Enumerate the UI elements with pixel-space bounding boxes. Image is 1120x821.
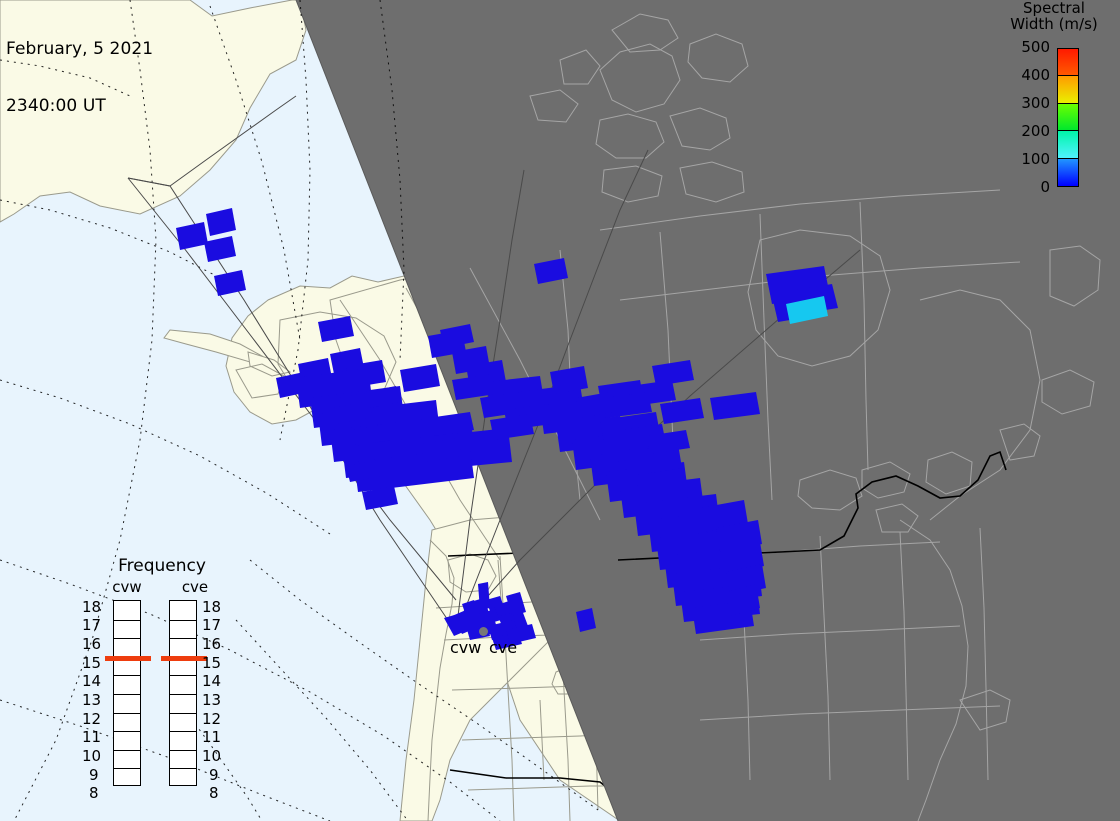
frequency-bar-cve — [169, 600, 197, 786]
radar-site-label-cvw: cvw — [450, 638, 481, 657]
colorbar-tick-100: 100 — [1021, 152, 1050, 167]
freq-cve-12: 12 — [202, 712, 221, 727]
colorbar-segment-400-500 — [1058, 49, 1078, 76]
freq-cvw-12: 12 — [82, 712, 101, 727]
frequency-marker-cvw — [105, 656, 151, 661]
colorbar-segment-0-100 — [1058, 159, 1078, 186]
freq-cve-17: 17 — [202, 618, 221, 633]
freq-cve-10: 10 — [202, 749, 221, 764]
colorbar-segment-100-200 — [1058, 131, 1078, 158]
colorbar-tick-400: 400 — [1021, 68, 1050, 83]
colorbar-tick-200: 200 — [1021, 124, 1050, 139]
freq-cve-11: 11 — [202, 730, 221, 745]
frequency-panel: Frequency cvw 18 17 16 15 14 13 12 11 10 — [82, 556, 242, 804]
freq-cve-14: 14 — [202, 674, 221, 689]
freq-cvw-8: 8 — [89, 786, 99, 801]
freq-cvw-16: 16 — [82, 637, 101, 652]
colorbar-segment-300-400 — [1058, 76, 1078, 103]
colorbar-title-line2: Width (m/s) — [988, 16, 1120, 32]
radar-site-label-cve: cve — [489, 638, 517, 657]
freq-cvw-17: 17 — [82, 618, 101, 633]
colorbar-tick-0: 0 — [1040, 180, 1050, 195]
freq-cve-8: 8 — [209, 786, 219, 801]
colorbar-title: Spectral Width (m/s) — [988, 0, 1120, 32]
frequency-radar-name-cve: cve — [164, 578, 226, 596]
freq-cve-15: 15 — [202, 656, 221, 671]
freq-cvw-13: 13 — [82, 693, 101, 708]
freq-cve-16: 16 — [202, 637, 221, 652]
freq-cvw-14: 14 — [82, 674, 101, 689]
freq-cvw-9: 9 — [89, 768, 99, 783]
frequency-panel-title: Frequency — [82, 556, 242, 576]
colorbar-gradient — [1057, 48, 1079, 187]
colorbar-tick-300: 300 — [1021, 96, 1050, 111]
freq-cvw-15: 15 — [82, 656, 101, 671]
freq-cve-13: 13 — [202, 693, 221, 708]
colorbar-segment-200-300 — [1058, 104, 1078, 131]
colorbar-tick-500: 500 — [1021, 40, 1050, 55]
timestamp-time: 2340:00 UT — [6, 97, 153, 116]
freq-cve-9: 9 — [209, 768, 219, 783]
timestamp-overlay: February, 5 2021 2340:00 UT — [6, 2, 153, 154]
frequency-bar-cvw — [113, 600, 141, 786]
freq-cvw-11: 11 — [82, 730, 101, 745]
frequency-radar-name-cvw: cvw — [96, 578, 158, 596]
colorbar-tick-labels: 500 400 300 200 100 0 — [988, 40, 1054, 195]
freq-cve-18: 18 — [202, 600, 221, 615]
timestamp-date: February, 5 2021 — [6, 40, 153, 59]
colorbar-title-line1: Spectral — [988, 0, 1120, 16]
radar-map-screenshot: February, 5 2021 2340:00 UT Spectral Wid… — [0, 0, 1120, 821]
colorbar: Spectral Width (m/s) 500 400 300 200 100… — [988, 0, 1120, 200]
radar-site-marker — [479, 627, 488, 636]
freq-cvw-18: 18 — [82, 600, 101, 615]
freq-cvw-10: 10 — [82, 749, 101, 764]
frequency-marker-cve — [161, 656, 207, 661]
